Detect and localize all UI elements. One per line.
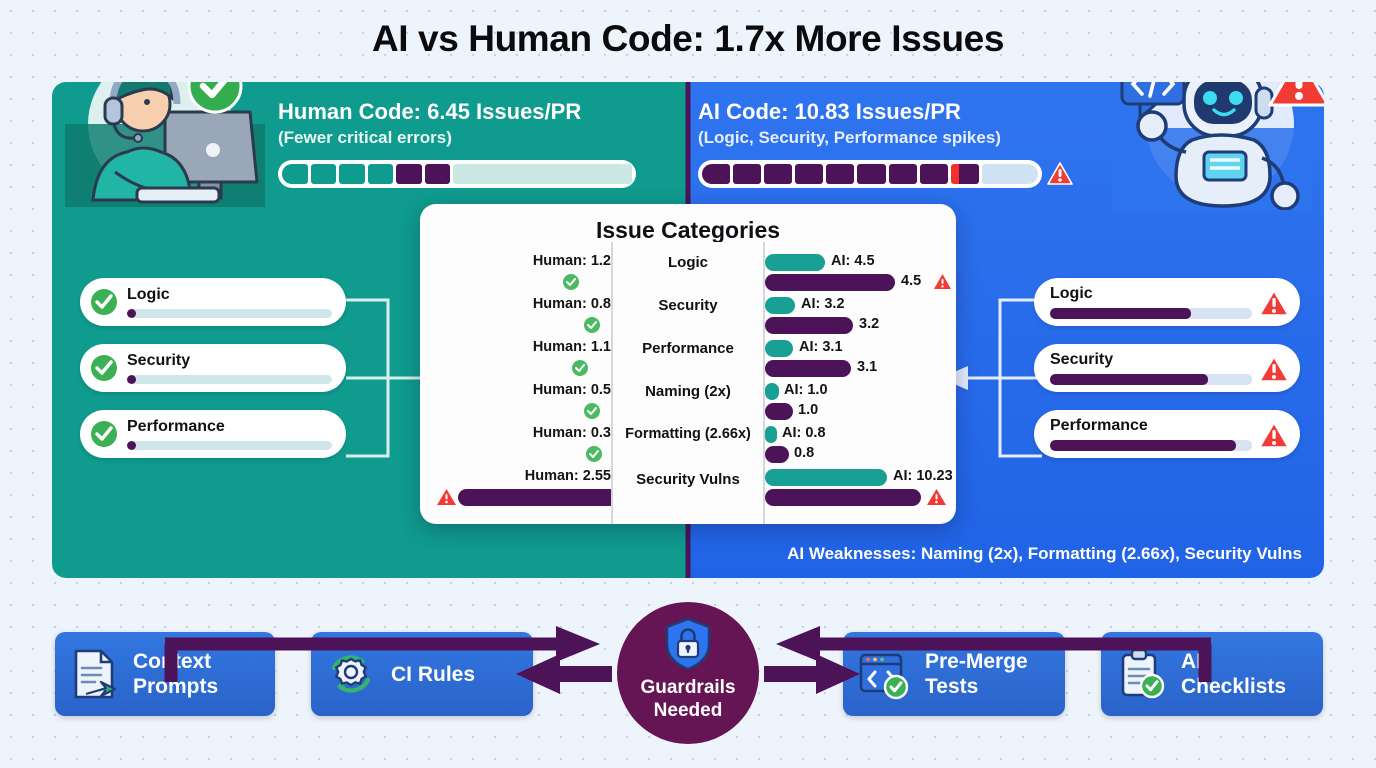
meter-segment <box>368 164 394 184</box>
check-circle-icon <box>89 419 119 449</box>
ai-value-number: 3.1 <box>857 359 877 375</box>
category-label: Logic <box>613 254 763 271</box>
ai-bar-secondary <box>765 340 793 357</box>
ai-heading: AI Code: 10.83 Issues/PR <box>698 98 1078 126</box>
card-progress-bar <box>1050 374 1252 385</box>
ai-value-label: AI: 10.23 <box>893 468 953 484</box>
meter-segment <box>733 164 761 184</box>
human-category-cards: Logic Security <box>80 278 346 476</box>
meter-segment-empty <box>982 164 1038 184</box>
progress-dot <box>127 309 136 318</box>
guardrails-hub[interactable]: Guardrails Needed <box>617 602 759 744</box>
ai-subheading: (Logic, Security, Performance spikes) <box>698 126 1078 150</box>
meter-segment <box>826 164 854 184</box>
ai-bar <box>765 489 921 506</box>
ai-card-performance[interactable]: Performance <box>1034 410 1300 458</box>
meter-segment <box>396 164 422 184</box>
check-circle-icon <box>585 445 603 463</box>
hub-label-line2: Needed <box>654 700 723 721</box>
category-label: Performance <box>613 340 763 357</box>
card-progress-bar <box>127 441 332 450</box>
ai-value-label: AI: 4.5 <box>831 253 875 269</box>
chart-category-labels: Logic Security Performance Naming (2x) F… <box>611 242 765 524</box>
card-label: Performance <box>1050 417 1252 435</box>
meter-segment <box>857 164 885 184</box>
progress-fill <box>1050 440 1236 451</box>
card-progress-bar <box>127 375 332 384</box>
check-badge-icon <box>184 82 246 117</box>
ai-card-security[interactable]: Security <box>1034 344 1300 392</box>
ai-bar <box>765 446 789 463</box>
ai-value-label: AI: 3.2 <box>801 296 845 312</box>
human-panel-header: Human Code: 6.45 Issues/PR (Fewer critic… <box>278 98 658 188</box>
human-subheading: (Fewer critical errors) <box>278 126 658 150</box>
check-circle-icon <box>89 287 119 317</box>
progress-dot <box>127 441 136 450</box>
ai-value-number: 3.2 <box>859 316 879 332</box>
check-circle-icon <box>562 273 580 291</box>
warning-triangle-icon <box>1258 355 1290 384</box>
human-card-performance[interactable]: Performance <box>80 410 346 458</box>
warning-triangle-icon <box>1266 82 1324 112</box>
meter-segment <box>702 164 730 184</box>
progress-fill <box>1050 308 1191 319</box>
card-progress-bar <box>127 309 332 318</box>
human-card-security[interactable]: Security <box>80 344 346 392</box>
ai-value-number: 4.5 <box>901 273 921 289</box>
warning-triangle-icon <box>436 488 457 507</box>
card-label: Security <box>127 352 332 370</box>
issue-categories-chart: Issue Categories Human: 1.2 AI: 4.5 4.5 … <box>420 204 956 524</box>
warning-triangle-icon <box>1258 421 1290 450</box>
ai-bar-secondary <box>765 254 825 271</box>
human-value-label: Human: 0.5 <box>533 382 611 398</box>
warning-triangle-icon <box>1258 289 1290 318</box>
human-card-logic[interactable]: Logic <box>80 278 346 326</box>
ai-bar-secondary <box>765 383 779 400</box>
meter-segment <box>339 164 365 184</box>
chart-title: Issue Categories <box>420 217 956 244</box>
human-value-label: Human: 0.8 <box>533 296 611 312</box>
human-issue-meter <box>278 160 636 188</box>
warning-triangle-icon <box>933 273 952 291</box>
ai-value-label: AI: 1.0 <box>784 382 828 398</box>
ai-bar-secondary <box>765 469 887 486</box>
warning-triangle-icon <box>1046 161 1074 187</box>
ai-panel-header: AI Code: 10.83 Issues/PR (Logic, Securit… <box>698 98 1078 188</box>
category-label: Naming (2x) <box>613 383 763 400</box>
ai-bar <box>765 317 853 334</box>
progress-dot <box>127 375 136 384</box>
category-label: Formatting (2.66x) <box>613 426 763 442</box>
ai-value-number: 0.8 <box>794 445 814 461</box>
card-progress-bar <box>1050 440 1252 451</box>
card-label: Logic <box>1050 285 1252 303</box>
ai-value-label: AI: 3.1 <box>799 339 843 355</box>
hub-label: Guardrails Needed <box>640 676 735 722</box>
meter-segment <box>282 164 308 184</box>
card-label: Performance <box>127 418 332 436</box>
shield-lock-icon <box>663 616 713 672</box>
check-circle-icon <box>89 353 119 383</box>
progress-fill <box>1050 374 1208 385</box>
human-value-label: Human: 2.55 <box>525 468 611 484</box>
warning-triangle-icon <box>926 488 947 507</box>
category-label: Security <box>613 297 763 314</box>
human-value-label: Human: 1.2 <box>533 253 611 269</box>
meter-segment-empty <box>453 164 632 184</box>
ai-card-logic[interactable]: Logic <box>1034 278 1300 326</box>
human-value-label: Human: 0.3 <box>533 425 611 441</box>
meter-segment <box>311 164 337 184</box>
meter-segment <box>795 164 823 184</box>
ai-bar-secondary <box>765 426 777 443</box>
ai-category-cards: Logic Security <box>1034 278 1300 476</box>
meter-segment <box>889 164 917 184</box>
ai-value-number: 1.0 <box>798 402 818 418</box>
ai-weaknesses-note: AI Weaknesses: Naming (2x), Formatting (… <box>787 544 1302 564</box>
ai-bar-secondary <box>765 297 795 314</box>
human-heading: Human Code: 6.45 Issues/PR <box>278 98 658 126</box>
category-label: Security Vulns <box>613 471 763 488</box>
hub-label-line1: Guardrails <box>640 677 735 698</box>
human-value-label: Human: 1.1 <box>533 339 611 355</box>
ai-bar <box>765 360 851 377</box>
meter-segment <box>764 164 792 184</box>
card-label: Security <box>1050 351 1252 369</box>
card-progress-bar <box>1050 308 1252 319</box>
check-circle-icon <box>583 402 601 420</box>
meter-segment-critical <box>951 164 979 184</box>
page-title: AI vs Human Code: 1.7x More Issues <box>0 18 1376 60</box>
ai-value-label: AI: 0.8 <box>782 425 826 441</box>
check-circle-icon <box>583 316 601 334</box>
ai-bar <box>765 274 895 291</box>
check-circle-icon <box>571 359 589 377</box>
meter-segment <box>425 164 451 184</box>
meter-segment <box>920 164 948 184</box>
ai-issue-meter <box>698 160 1042 188</box>
card-label: Logic <box>127 286 332 304</box>
ai-bar <box>765 403 793 420</box>
